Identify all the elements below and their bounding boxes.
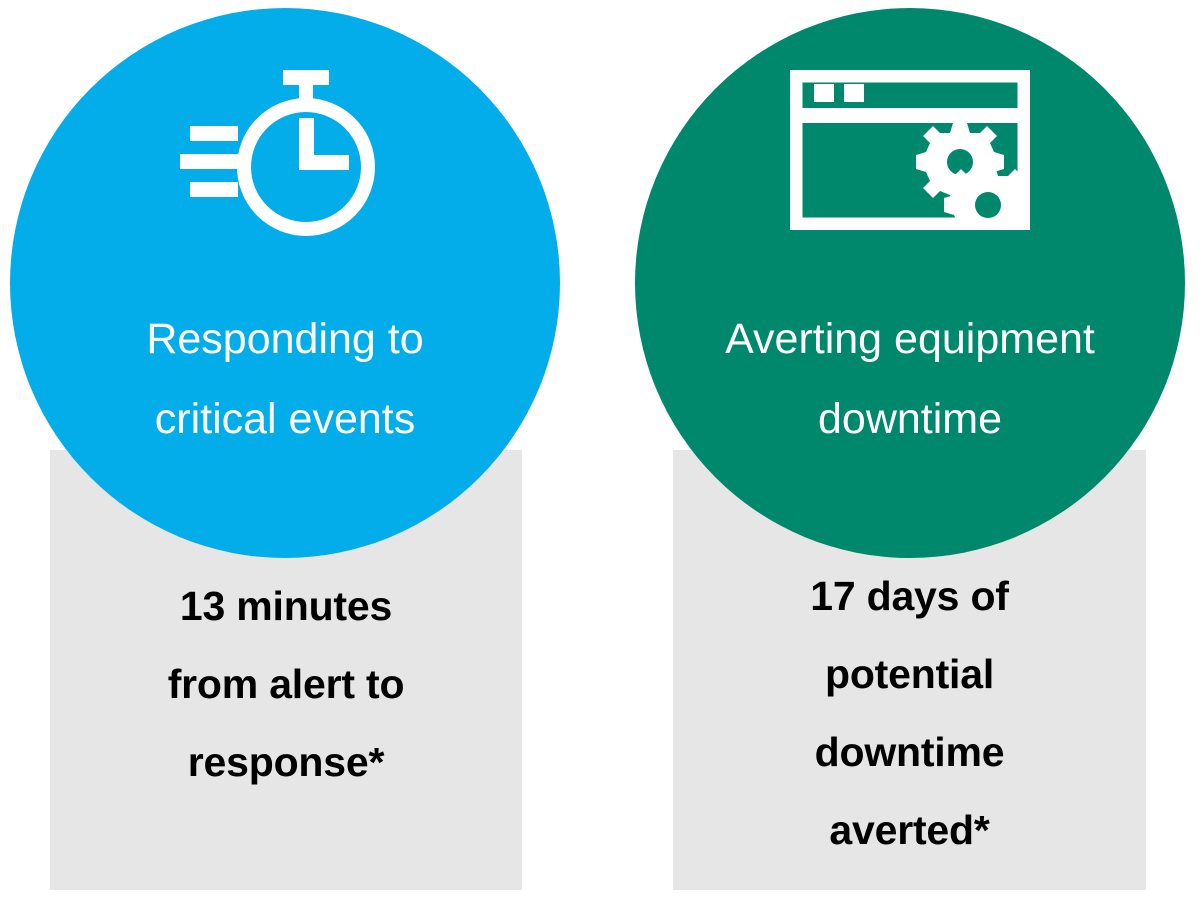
circle-caption-averting-equipment-downtime: Averting equipment downtime	[635, 300, 1185, 459]
circle-responding-to-critical-events: Responding to critical events	[10, 8, 560, 558]
stat-text-averting-equipment-downtime: 17 days of potential downtime averted*	[673, 558, 1146, 870]
stopwatch-speed-icon	[180, 70, 390, 250]
monitor-gears-icon	[790, 70, 1030, 235]
circle-averting-equipment-downtime: Averting equipment downtime	[635, 8, 1185, 558]
infographic-root: 13 minutes from alert to response* Respo…	[0, 0, 1200, 919]
stat-text-responding-to-critical-events: 13 minutes from alert to response*	[50, 568, 522, 802]
circle-caption-responding-to-critical-events: Responding to critical events	[10, 300, 560, 459]
